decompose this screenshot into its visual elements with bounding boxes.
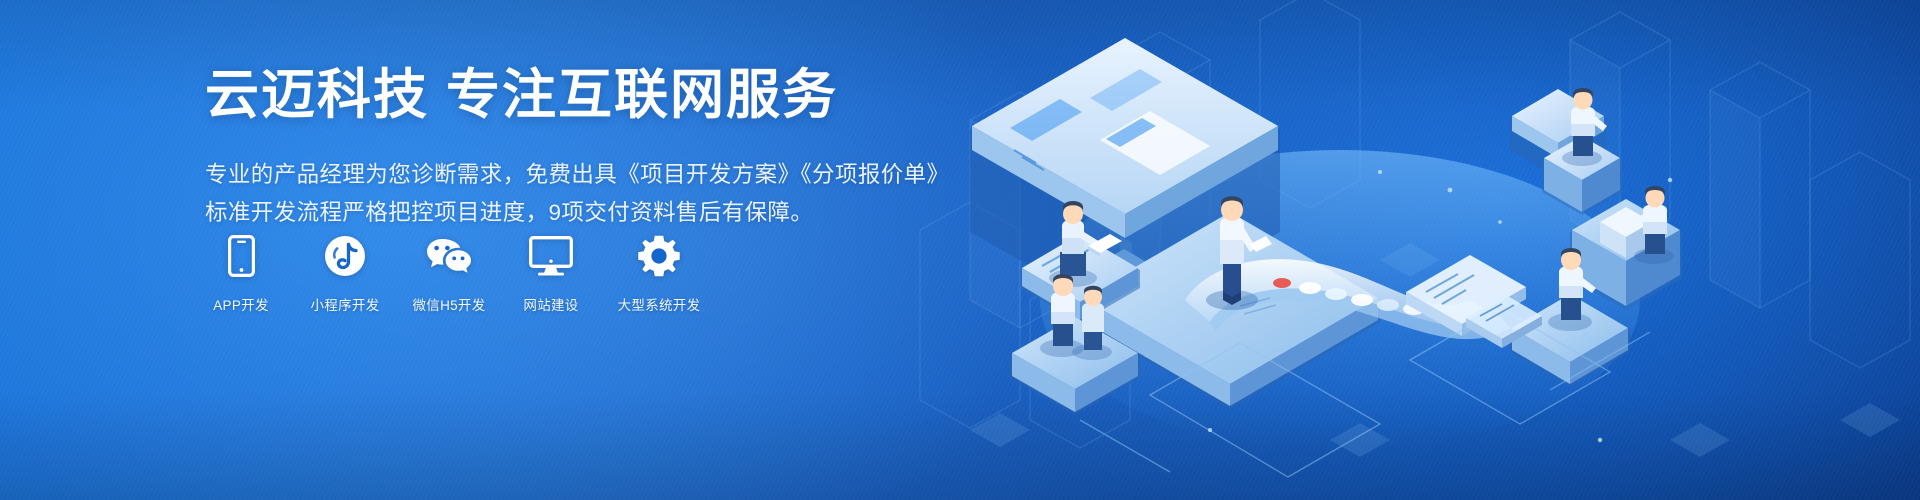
service-label-wechat-h5: 微信H5开发 xyxy=(412,294,485,314)
monitor-icon xyxy=(529,232,573,280)
mini-program-icon xyxy=(324,232,366,280)
service-item-website[interactable]: 网站建设 xyxy=(515,232,587,314)
gear-icon xyxy=(638,232,680,280)
banner-content: 云迈科技 专注互联网服务 专业的产品经理为您诊断需求，免费出具《项目开发方案》《… xyxy=(205,64,965,233)
wechat-icon xyxy=(426,232,472,280)
hero-illustration xyxy=(910,0,1920,500)
service-label-large-system: 大型系统开发 xyxy=(618,294,701,314)
service-label-mini-program: 小程序开发 xyxy=(311,294,380,314)
service-label-app: APP开发 xyxy=(213,294,269,314)
banner-subtitle: 专业的产品经理为您诊断需求，免费出具《项目开发方案》《分项报价单》 标准开发流程… xyxy=(205,156,965,233)
hero-banner: 云迈科技 专注互联网服务 专业的产品经理为您诊断需求，免费出具《项目开发方案》《… xyxy=(0,0,1920,500)
service-item-mini-program[interactable]: 小程序开发 xyxy=(309,232,381,314)
banner-subtitle-line-2: 标准开发流程严格把控项目进度，9项交付资料售后有保障。 xyxy=(205,194,965,233)
service-item-wechat-h5[interactable]: 微信H5开发 xyxy=(411,232,487,314)
service-item-large-system[interactable]: 大型系统开发 xyxy=(613,232,705,314)
service-item-app[interactable]: APP开发 xyxy=(205,232,277,314)
mobile-phone-icon xyxy=(228,232,255,280)
service-label-website: 网站建设 xyxy=(523,294,578,314)
banner-subtitle-line-1: 专业的产品经理为您诊断需求，免费出具《项目开发方案》《分项报价单》 xyxy=(205,156,965,195)
banner-title: 云迈科技 专注互联网服务 xyxy=(205,64,965,128)
service-list: APP开发 小程序开发 xyxy=(205,232,705,314)
